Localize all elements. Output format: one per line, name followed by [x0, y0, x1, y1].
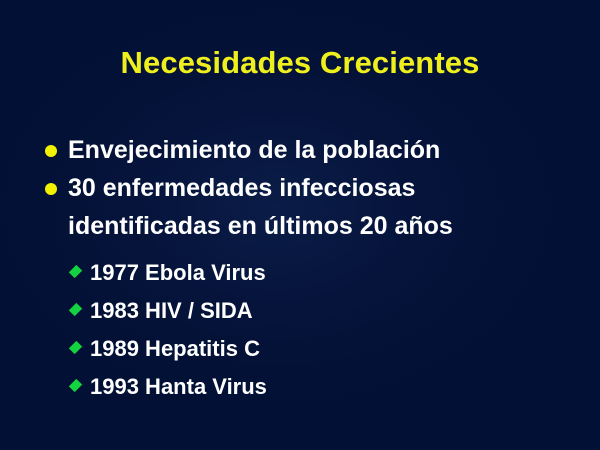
- bullet-text: 30 enfermedades infecciosas identificada…: [68, 169, 600, 245]
- filled-circle-bullet-icon: [45, 183, 57, 195]
- slide-body: Envejecimiento de la población 30 enferm…: [0, 131, 600, 406]
- list-item: 1977 Ebola Virus: [0, 254, 600, 292]
- presentation-slide: Necesidades Crecientes Envejecimiento de…: [0, 0, 600, 450]
- slide-title: Necesidades Crecientes: [0, 46, 600, 80]
- sub-bullet-text: 1983 HIV / SIDA: [90, 298, 253, 323]
- list-item: 1993 Hanta Virus: [0, 368, 600, 406]
- bullet-text-line-2: identificadas en últimos 20 años: [68, 207, 600, 245]
- filled-circle-bullet-icon: [45, 145, 57, 157]
- list-item: 30 enfermedades infecciosas identificada…: [0, 169, 600, 245]
- sub-bullet-text: 1989 Hepatitis C: [90, 336, 260, 361]
- bullet-text: Envejecimiento de la población: [68, 131, 600, 169]
- sub-bullet-text: 1977 Ebola Virus: [90, 260, 266, 285]
- sub-bullet-list: 1977 Ebola Virus 1983 HIV / SIDA 1989 He…: [0, 254, 600, 406]
- sub-bullet-text: 1993 Hanta Virus: [90, 374, 267, 399]
- green-diamond-bullet-icon: [69, 341, 82, 354]
- green-diamond-bullet-icon: [69, 379, 82, 392]
- list-item: Envejecimiento de la población: [0, 131, 600, 169]
- green-diamond-bullet-icon: [69, 265, 82, 278]
- bullet-text-line-1: 30 enfermedades infecciosas: [68, 169, 600, 207]
- list-item: 1989 Hepatitis C: [0, 330, 600, 368]
- green-diamond-bullet-icon: [69, 303, 82, 316]
- list-item: 1983 HIV / SIDA: [0, 292, 600, 330]
